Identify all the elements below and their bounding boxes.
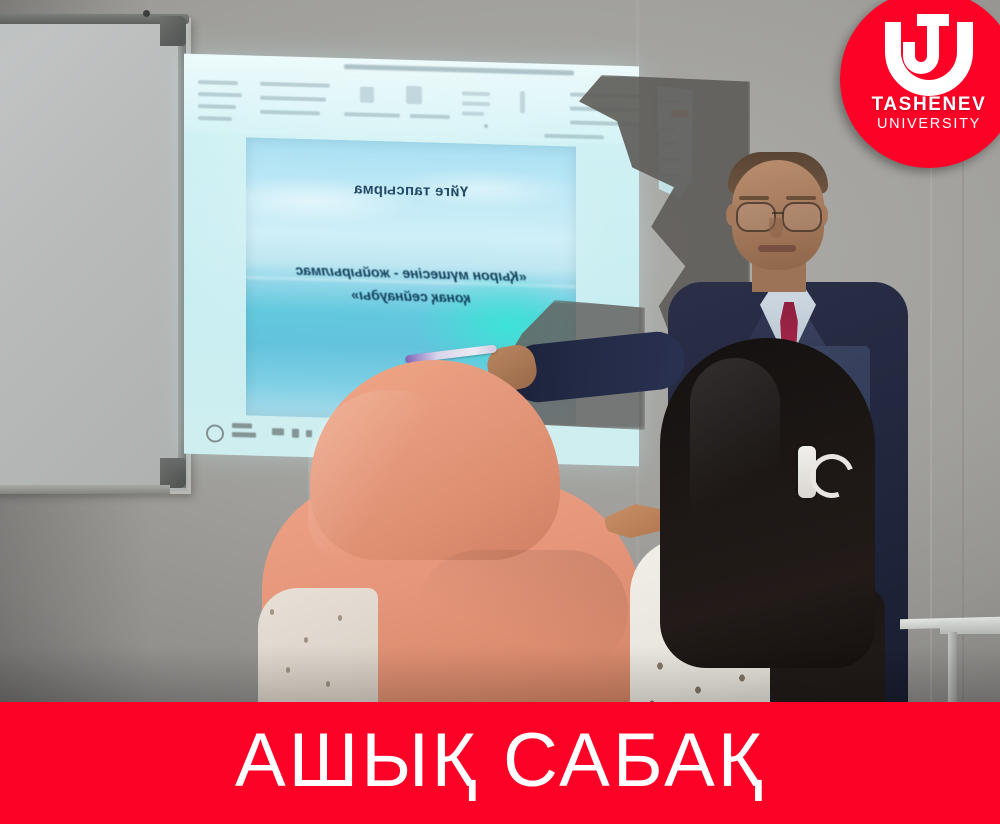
screenshot-root: Үйге тапсырма «Қырон мүшесіне - жойырылм… <box>0 0 1000 824</box>
bottom-banner: АШЫҚ САБАҚ <box>0 702 1000 824</box>
slide-body: «Қырон мүшесіне - жойырылмас қонақ сейна… <box>254 258 568 313</box>
whiteboard-tray <box>0 485 170 494</box>
logo-name: TASHENEV <box>840 94 1000 116</box>
glasses-icon <box>782 202 822 232</box>
whiteboard-corner-bracket <box>160 458 186 488</box>
banner-title: АШЫҚ САБАҚ <box>235 723 765 799</box>
slide-body-line-2: қонақ сейнауды» <box>351 286 470 305</box>
whiteboard-screw <box>143 10 150 17</box>
projected-app-ribbon <box>184 54 639 145</box>
slide-body-line-1: «Қырон мүшесіне - жойырылмас <box>295 262 526 284</box>
logo-subtitle: UNIVERSITY <box>840 116 1000 132</box>
tu-monogram-icon <box>877 12 981 101</box>
whiteboard-corner-bracket <box>160 16 186 46</box>
